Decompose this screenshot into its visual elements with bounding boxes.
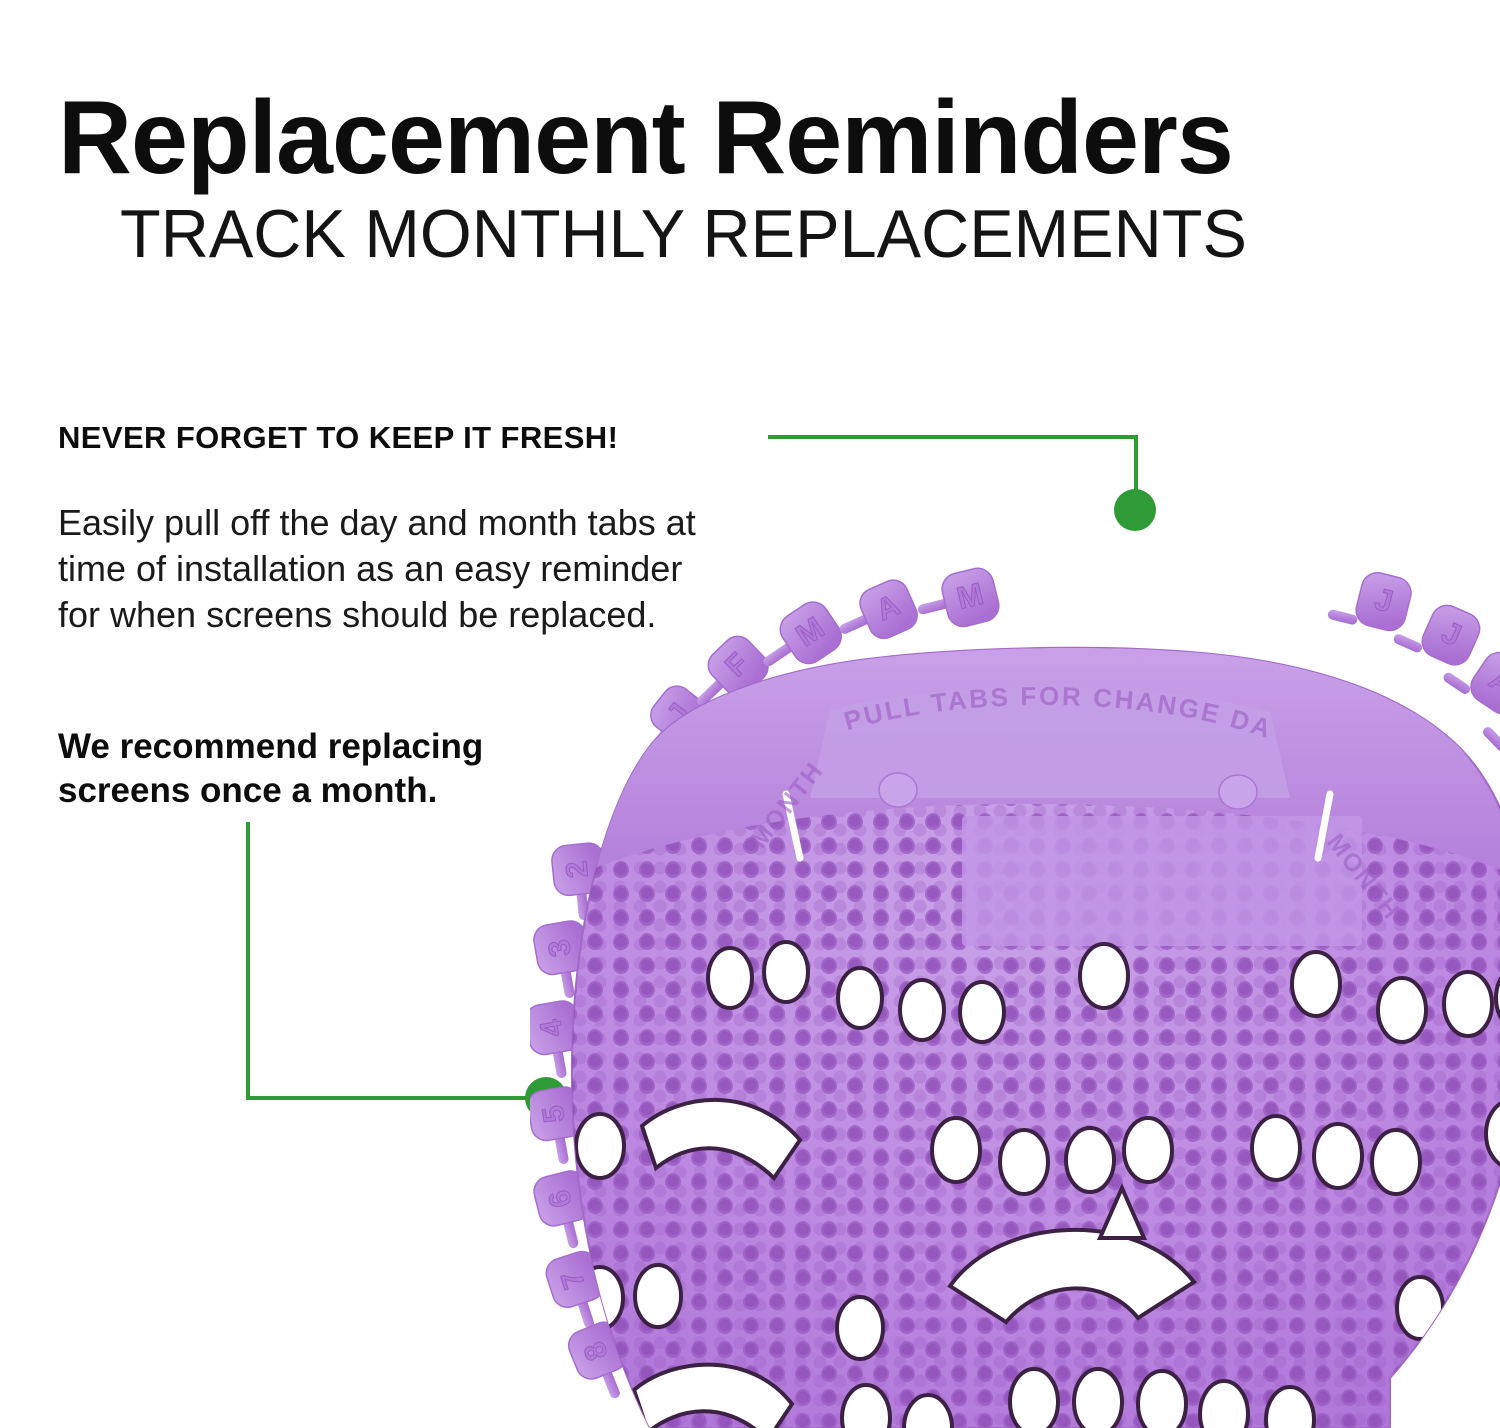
svg-text:8: 8 bbox=[578, 1337, 615, 1365]
embossed-label-month-right: MONTH bbox=[1321, 828, 1406, 925]
svg-text:7: 7 bbox=[555, 1267, 592, 1293]
embossed-label-month-left: MONTH bbox=[745, 756, 830, 853]
svg-text:4: 4 bbox=[534, 1017, 569, 1039]
callout-body-freshness: Easily pull off the day and month tabs a… bbox=[58, 500, 718, 638]
svg-text:3: 3 bbox=[542, 937, 577, 959]
svg-text:J: J bbox=[1371, 581, 1396, 619]
callout-body-frequency: We recommend replacing screens once a mo… bbox=[58, 725, 618, 813]
svg-text:2: 2 bbox=[560, 859, 595, 879]
leader-dot-freshness bbox=[1114, 489, 1156, 531]
svg-text:M: M bbox=[953, 576, 987, 616]
month-tab-group-right: J J A S bbox=[1327, 563, 1500, 788]
leader-line-frequency-vertical bbox=[246, 822, 250, 1100]
page-subtitle: TRACK MONTHLY REPLACEMENTS bbox=[120, 200, 1453, 268]
svg-text:J: J bbox=[661, 697, 697, 730]
svg-text:6: 6 bbox=[543, 1187, 579, 1211]
triangle-marker-icon bbox=[1100, 1188, 1144, 1238]
leader-line-frequency-horizontal bbox=[246, 1096, 546, 1100]
svg-text:J: J bbox=[1437, 614, 1467, 653]
callout-heading-freshness: NEVER FORGET TO KEEP IT FRESH! bbox=[58, 420, 618, 456]
svg-text:A: A bbox=[1483, 661, 1500, 703]
svg-text:F: F bbox=[719, 647, 755, 683]
svg-text:MONTH: MONTH bbox=[745, 756, 830, 853]
svg-text:A: A bbox=[871, 588, 904, 627]
leader-dot-frequency bbox=[525, 1077, 567, 1119]
svg-text:MONTH: MONTH bbox=[1321, 828, 1406, 925]
svg-text:M: M bbox=[789, 610, 830, 653]
page-title: Replacement Reminders bbox=[58, 86, 1437, 190]
leader-line-freshness-horizontal bbox=[768, 435, 1138, 439]
day-tab-group-left: 2 3 4 5 6 7 8 bbox=[530, 842, 641, 1408]
